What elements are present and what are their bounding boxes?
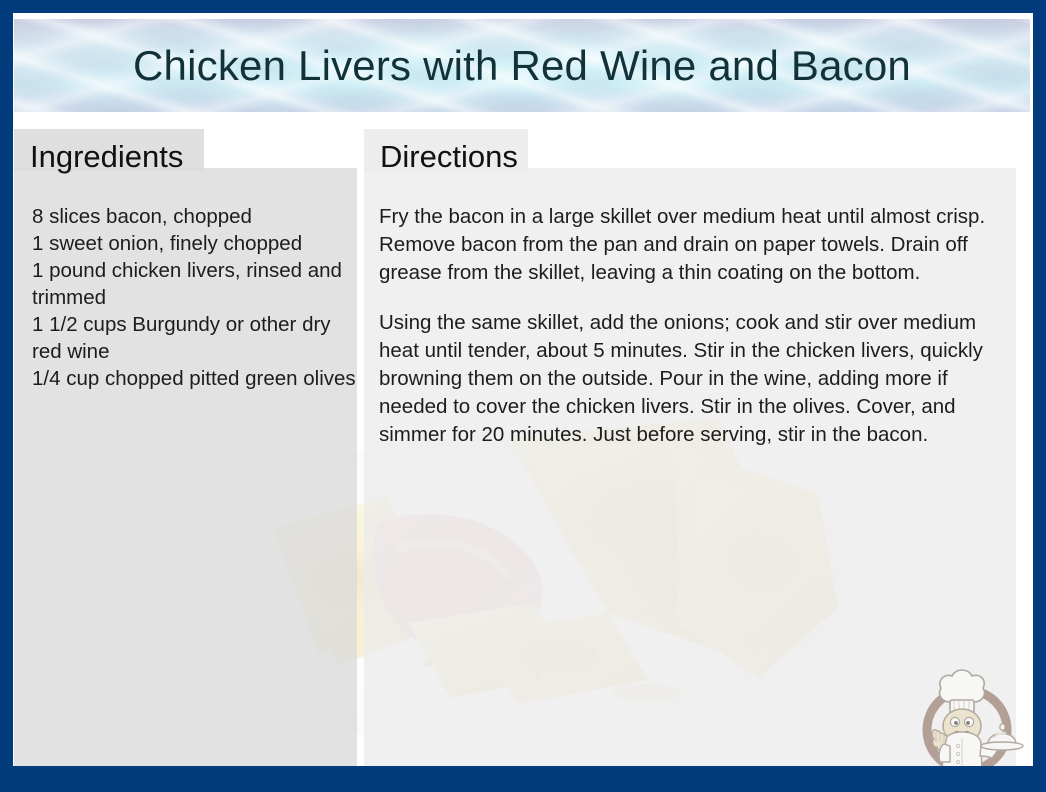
directions-body: Fry the bacon in a large skillet over me… xyxy=(379,203,1019,449)
directions-heading: Directions xyxy=(380,139,518,175)
recipe-title: Chicken Livers with Red Wine and Bacon xyxy=(14,42,1030,90)
ingredients-list: 8 slices bacon, chopped 1 sweet onion, f… xyxy=(32,203,364,392)
list-item: 1/4 cup chopped pitted green olives xyxy=(32,365,364,392)
list-item: 1 sweet onion, finely chopped xyxy=(32,230,364,257)
directions-paragraph: Fry the bacon in a large skillet over me… xyxy=(379,203,1019,287)
list-item: 1 pound chicken livers, rinsed and trimm… xyxy=(32,257,364,311)
recipe-sheet: Chicken Livers with Red Wine and Bacon xyxy=(13,13,1033,766)
ingredients-heading: Ingredients xyxy=(30,139,183,175)
recipe-card: Chicken Livers with Red Wine and Bacon xyxy=(0,0,1046,792)
title-banner: Chicken Livers with Red Wine and Bacon xyxy=(14,19,1030,112)
list-item: 8 slices bacon, chopped xyxy=(32,203,364,230)
chef-mascot-logo xyxy=(906,658,1028,766)
list-item: 1 1/2 cups Burgundy or other dry red win… xyxy=(32,311,364,365)
directions-paragraph: Using the same skillet, add the onions; … xyxy=(379,309,1019,449)
